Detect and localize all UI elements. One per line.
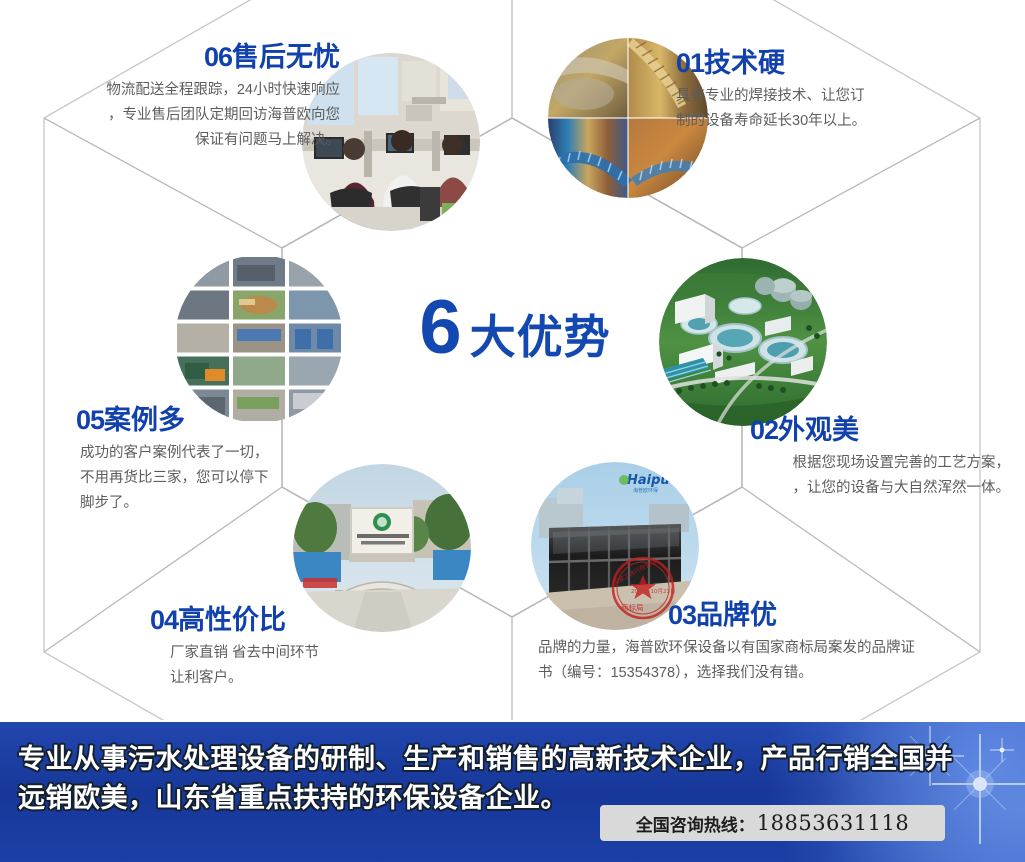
hotline-label: 全国咨询热线： xyxy=(636,811,755,836)
aerial-plant-photo xyxy=(659,258,827,426)
feature-04-desc: 厂家直销 省去中间环节 让利客户。 xyxy=(150,641,480,691)
svg-text:海普欧环保: 海普欧环保 xyxy=(633,487,658,494)
feature-02-desc-line: ，让您的设备与大自然浑然一体。 xyxy=(640,476,1010,501)
feature-04-title-text: 高性价比 xyxy=(178,605,286,635)
feature-06-number: 06 xyxy=(204,42,232,72)
feature-03-number: 03 xyxy=(668,600,696,630)
center-label-text: 大优势 xyxy=(470,314,611,360)
feature-06-title: 06售后无忧 xyxy=(10,42,340,73)
feature-05-desc-line: 不用再货比三家，您可以停下 xyxy=(80,466,406,491)
feature-03-desc-line: 书（编号：15354378），选择我们没有错。 xyxy=(538,661,1008,686)
feature-01-desc-line: 制的设备寿命延长30年以上。 xyxy=(676,109,1006,134)
feature-01-desc: 具有专业的焊接技术、让您订 制的设备寿命延长30年以上。 xyxy=(676,84,1006,134)
feature-04-title: 04高性价比 xyxy=(150,605,480,636)
bottom-banner: 专业从事污水处理设备的研制、生产和销售的高新技术企业，产品行销全国并 远销欧美，… xyxy=(0,722,1025,862)
feature-02-number: 02 xyxy=(750,415,778,445)
feature-05-desc: 成功的客户案例代表了一切， 不用再货比三家，您可以停下 脚步了。 xyxy=(76,441,406,516)
feature-05-desc-line: 脚步了。 xyxy=(80,491,406,516)
feature-06-desc-line: 物流配送全程跟踪，24小时快速响应 xyxy=(10,78,340,103)
feature-06-desc-line: ，专业售后团队定期回访海普欧向您 xyxy=(10,103,340,128)
feature-02-title-text: 外观美 xyxy=(778,415,859,445)
svg-text:2014年10月23日: 2014年10月23日 xyxy=(631,587,676,595)
case-collage-photo xyxy=(175,255,343,423)
feature-05: 05案例多 成功的客户案例代表了一切， 不用再货比三家，您可以停下 脚步了。 xyxy=(76,405,406,516)
feature-05-title: 05案例多 xyxy=(76,405,406,436)
infographic-root: 6 大优势 xyxy=(0,0,1025,862)
feature-03-title-text: 品牌优 xyxy=(696,600,777,630)
feature-06-desc-line: 保证有问题马上解决。 xyxy=(10,128,340,153)
feature-01-number: 01 xyxy=(676,48,704,78)
feature-05-desc-line: 成功的客户案例代表了一切， xyxy=(80,441,406,466)
feature-01-title-text: 技术硬 xyxy=(704,48,785,78)
center-number: 6 xyxy=(419,290,459,366)
feature-05-title-text: 案例多 xyxy=(104,405,185,435)
feature-01-desc-line: 具有专业的焊接技术、让您订 xyxy=(676,84,1006,109)
feature-03-desc: 品牌的力量，海普欧环保设备以有国家商标局案发的品牌证 书（编号：15354378… xyxy=(538,636,1008,686)
feature-06-title-text: 售后无忧 xyxy=(232,42,340,72)
feature-04-desc-line: 厂家直销 省去中间环节 xyxy=(170,641,480,666)
hotline-number: 18853631118 xyxy=(757,811,909,835)
feature-02: 02外观美 根据您现场设置完善的工艺方案， ，让您的设备与大自然浑然一体。 xyxy=(640,415,1010,501)
feature-01-title: 01技术硬 xyxy=(676,48,1006,79)
feature-05-number: 05 xyxy=(76,405,104,435)
feature-06-desc: 物流配送全程跟踪，24小时快速响应 ，专业售后团队定期回访海普欧向您 保证有问题… xyxy=(10,78,340,153)
hotline-box[interactable]: 全国咨询热线： 18853631118 xyxy=(600,805,945,841)
feature-01: 01技术硬 具有专业的焊接技术、让您订 制的设备寿命延长30年以上。 xyxy=(676,48,1006,134)
feature-06: 06售后无忧 物流配送全程跟踪，24小时快速响应 ，专业售后团队定期回访海普欧向… xyxy=(10,42,340,153)
center-headline: 6 大优势 xyxy=(390,290,640,366)
banner-text-line: 专业从事污水处理设备的研制、生产和销售的高新技术企业，产品行销全国并 xyxy=(18,740,1008,779)
feature-02-desc: 根据您现场设置完善的工艺方案， ，让您的设备与大自然浑然一体。 xyxy=(640,451,1010,501)
feature-03-title: 03品牌优 xyxy=(538,600,1008,631)
feature-02-desc-line: 根据您现场设置完善的工艺方案， xyxy=(640,451,1010,476)
feature-04-desc-line: 让利客户。 xyxy=(170,666,480,691)
feature-04: 04高性价比 厂家直销 省去中间环节 让利客户。 xyxy=(150,605,480,691)
feature-04-number: 04 xyxy=(150,605,178,635)
feature-03: 03品牌优 品牌的力量，海普欧环保设备以有国家商标局案发的品牌证 书（编号：15… xyxy=(538,600,1008,686)
feature-02-title: 02外观美 xyxy=(640,415,1010,446)
feature-03-desc-line: 品牌的力量，海普欧环保设备以有国家商标局案发的品牌证 xyxy=(538,636,1008,661)
